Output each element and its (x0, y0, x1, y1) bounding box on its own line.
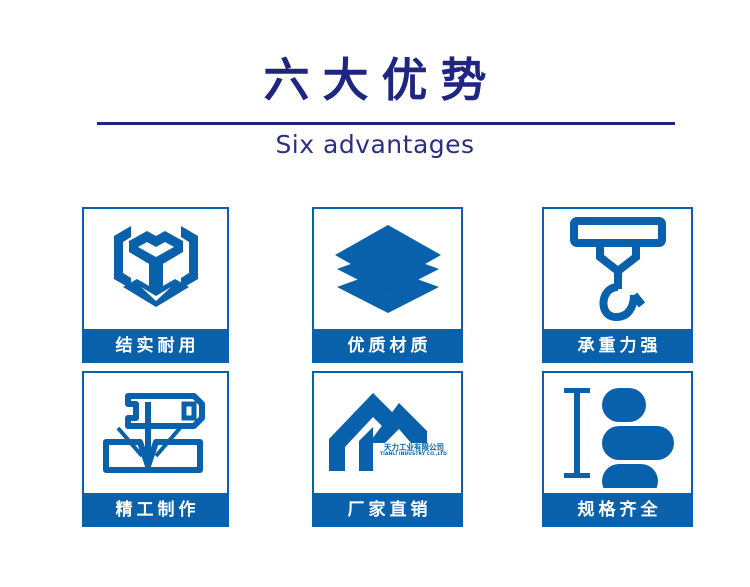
advantage-card-3[interactable]: 承重力强 (542, 207, 693, 363)
laser-cutting-icon (84, 373, 227, 493)
ibeam-sizes-icon (544, 373, 691, 493)
stacked-layers-icon (314, 209, 461, 329)
advantage-card-6[interactable]: 规格齐全 (542, 371, 693, 527)
company-name-en: TIANLI INDUSTRY CO.,LTD (375, 452, 453, 458)
advantage-card-6-label: 规格齐全 (542, 493, 693, 527)
page-title: 六大优势 (0, 52, 750, 108)
advantage-card-2[interactable]: 优质材质 (312, 207, 463, 363)
hexagon-cube-icon (84, 209, 227, 329)
advantage-card-5[interactable]: 天力工业有限公司 TIANLI INDUSTRY CO.,LTD 厂家直销 (312, 371, 463, 527)
company-logo-text: 天力工业有限公司 TIANLI INDUSTRY CO.,LTD (375, 443, 453, 458)
page-subtitle: Six advantages (0, 128, 750, 162)
advantage-card-2-label: 优质材质 (312, 329, 463, 363)
crane-hook-icon (544, 209, 691, 329)
advantage-card-3-label: 承重力强 (542, 329, 693, 363)
company-roof-logo-icon: 天力工业有限公司 TIANLI INDUSTRY CO.,LTD (314, 373, 461, 493)
advantage-card-1-label: 结实耐用 (82, 329, 229, 363)
title-divider (97, 122, 675, 125)
advantage-card-1[interactable]: 结实耐用 (82, 207, 229, 363)
company-name-cn: 天力工业有限公司 (377, 443, 450, 452)
advantage-card-4-label: 精工制作 (82, 493, 229, 527)
advantage-card-4[interactable]: 精工制作 (82, 371, 229, 527)
advantages-grid: 结实耐用 优质材质 (0, 190, 750, 550)
page-header: 六大优势 Six advantages (0, 0, 750, 180)
advantage-card-5-label: 厂家直销 (312, 493, 463, 527)
